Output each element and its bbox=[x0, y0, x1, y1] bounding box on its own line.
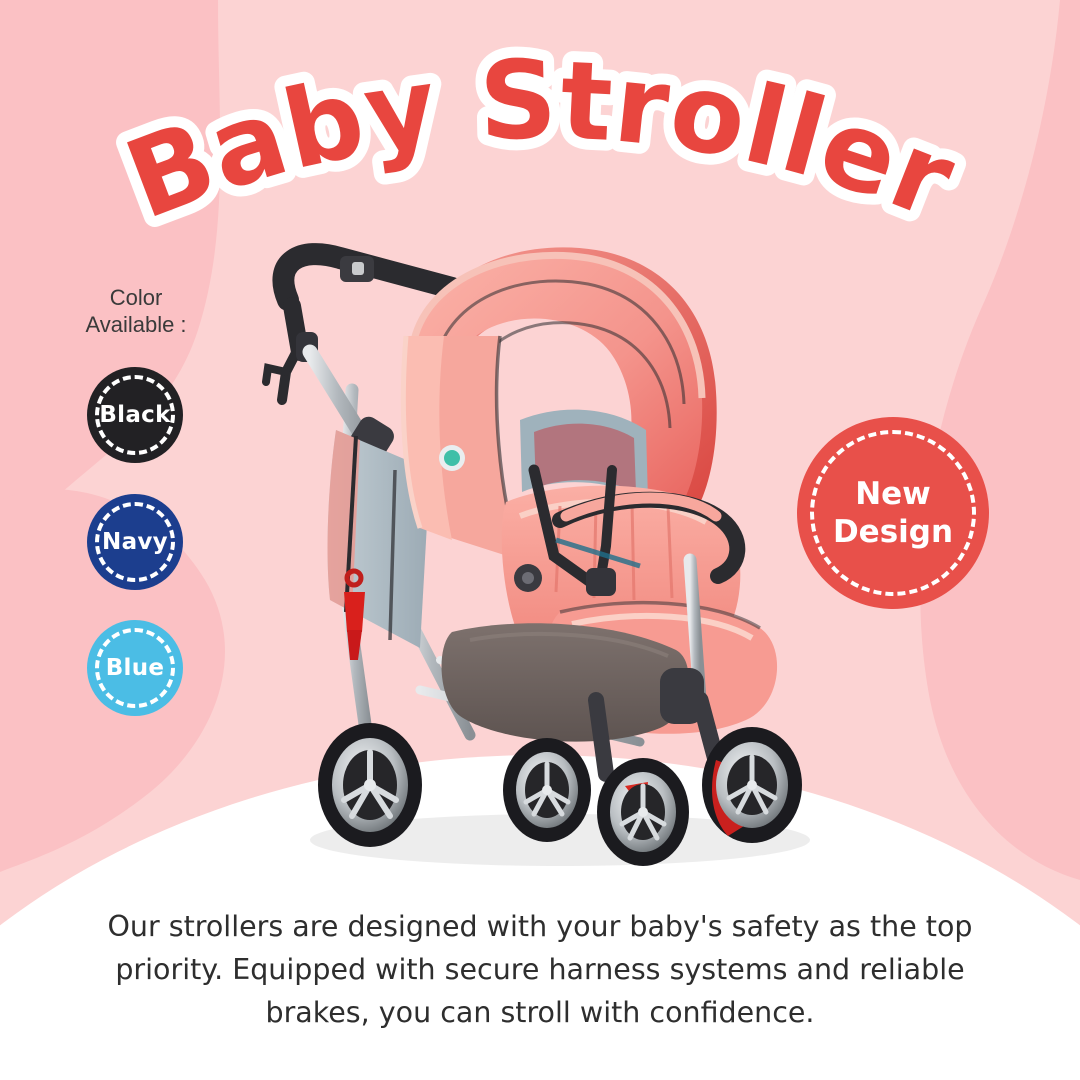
new-design-badge-label: New Design bbox=[833, 475, 953, 551]
wheel-rear-left bbox=[318, 723, 422, 847]
wheel-front-left bbox=[597, 758, 689, 866]
color-swatch-black[interactable]: Black bbox=[87, 367, 183, 463]
color-swatch-navy[interactable]: Navy bbox=[87, 494, 183, 590]
color-available-section: Color Available : bbox=[48, 284, 224, 338]
description-text: Our strollers are designed with your bab… bbox=[90, 905, 990, 1034]
poster-canvas: Baby Stroller Color Available : Black Na… bbox=[0, 0, 1080, 1080]
color-swatch-label: Navy bbox=[102, 529, 168, 555]
wheel-front-right bbox=[702, 727, 802, 843]
color-swatch-blue[interactable]: Blue bbox=[87, 620, 183, 716]
wheel-rear-right bbox=[503, 738, 591, 842]
color-swatch-label: Black bbox=[99, 402, 170, 428]
color-available-label: Color Available : bbox=[48, 284, 224, 338]
new-design-badge[interactable]: New Design bbox=[797, 417, 989, 609]
color-swatch-label: Blue bbox=[106, 655, 165, 681]
